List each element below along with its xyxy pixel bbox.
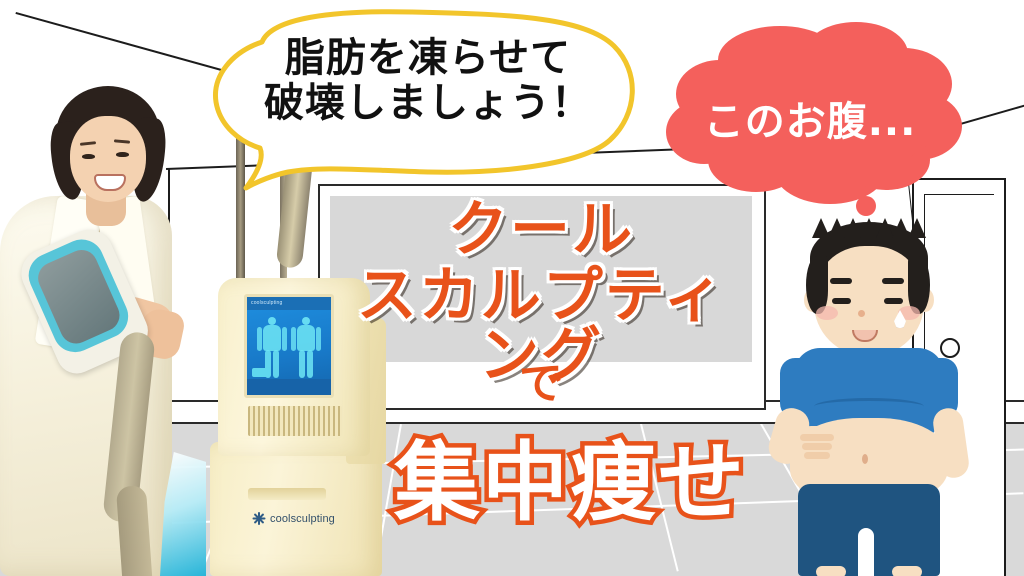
shirt-fold — [814, 398, 924, 415]
title-panel — [330, 196, 752, 362]
thumbnail-canvas: coolsculpting — [0, 0, 1024, 576]
body-arm-left — [291, 327, 296, 351]
body-torso — [297, 325, 315, 351]
body-arm-right — [282, 327, 287, 351]
machine-vent-grille — [248, 406, 342, 436]
bottom-headline: 集中痩せ — [380, 440, 760, 526]
body-arm-left — [257, 327, 262, 351]
eye-right — [884, 298, 903, 304]
machine-handle-slot — [248, 488, 326, 500]
thought-bubble-text: このお腹... — [660, 102, 960, 142]
fingers — [800, 432, 842, 462]
thought-bubble-dot — [856, 196, 876, 216]
coolsculpting-machine: coolsculpting — [196, 272, 392, 576]
title-particle: で — [330, 362, 752, 406]
body-leg-left — [299, 350, 305, 378]
eyebrow-left — [830, 278, 852, 284]
navel — [862, 454, 868, 464]
cheek-left — [816, 306, 838, 320]
speech-bubble-text: 脂肪を凍らせて 破壊しましょう！ — [248, 36, 608, 126]
body-arm-right — [316, 327, 321, 351]
nose — [858, 310, 865, 317]
body-head — [268, 317, 276, 325]
eye-left — [832, 298, 851, 304]
body-diagram-right — [293, 317, 319, 379]
machine-touchscreen[interactable]: coolsculpting — [244, 294, 334, 398]
snowflake-icon — [252, 512, 265, 525]
speech-line-2: 破壊しましょう！ — [248, 81, 608, 126]
body-leg-right — [273, 350, 279, 378]
hair-spikes — [812, 218, 926, 244]
foot-right — [892, 566, 922, 576]
pants-gap — [858, 528, 874, 576]
body-torso — [263, 325, 281, 351]
eyebrow-right — [882, 278, 904, 284]
machine-brand-logo: coolsculpting — [252, 512, 335, 525]
screen-footer — [247, 379, 331, 395]
body-head — [302, 317, 310, 325]
cartoon-man — [772, 222, 972, 576]
eye-left — [82, 154, 95, 159]
thought-bubble: このお腹... — [660, 14, 970, 214]
speech-bubble: 脂肪を凍らせて 破壊しましょう！ — [202, 6, 642, 196]
machine-brand-text: coolsculpting — [270, 513, 335, 525]
eye-right — [116, 152, 129, 157]
back-arrow-icon[interactable] — [252, 368, 270, 377]
foot-left — [816, 566, 846, 576]
speech-line-1: 脂肪を凍らせて — [248, 36, 608, 81]
body-leg-right — [307, 350, 313, 378]
screen-brand-label: coolsculpting — [251, 300, 283, 306]
